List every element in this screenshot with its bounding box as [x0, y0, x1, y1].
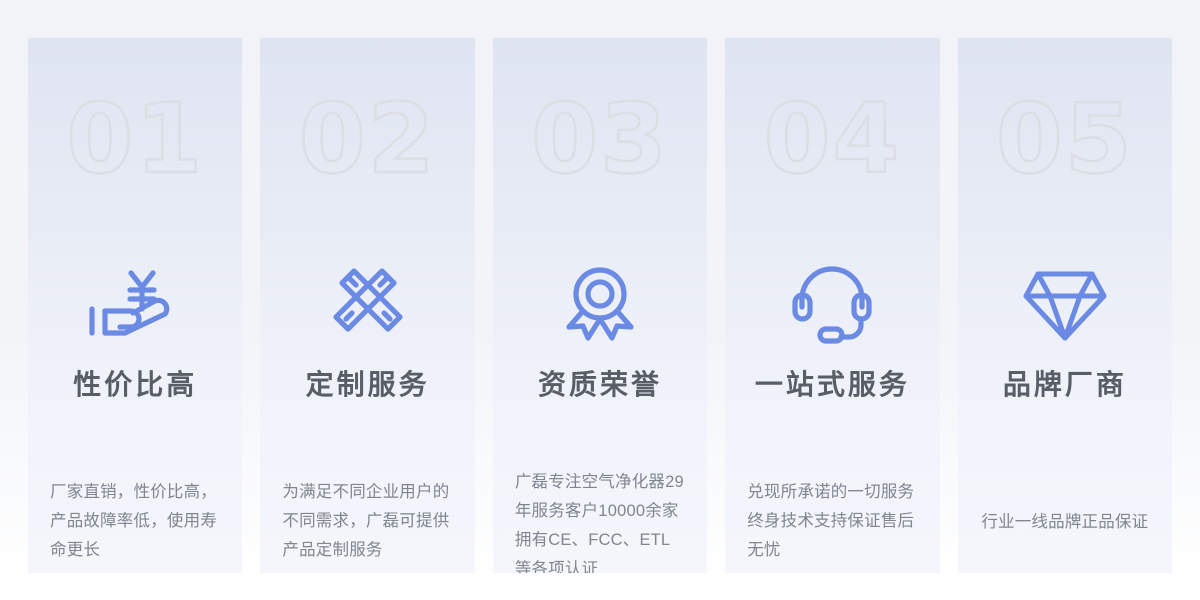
award-ribbon-icon — [493, 260, 707, 350]
card-title-1: 性价比高 — [28, 363, 242, 403]
feature-card-5[interactable]: 05 品牌厂商 行业一线品牌正品保证 — [958, 38, 1172, 573]
pen-ruler-icon — [260, 260, 474, 350]
card-number-02: 02 — [260, 84, 474, 194]
feature-card-2[interactable]: 02 定制服务 为满足不同企业用户的不同需求，广磊可提供产品定制服务 — [260, 38, 474, 573]
card-number-04: 04 — [725, 84, 939, 194]
feature-card-3[interactable]: 03 资质荣誉 广磊专注空气净化器29年服务客户10000余家拥有CE、FCC、… — [493, 38, 707, 573]
card-number-01: 01 — [28, 84, 242, 194]
feature-card-1[interactable]: 01 性价比高 厂家直销，性价比高，产品故障率低，使用寿命更长 — [28, 38, 242, 573]
card-desc-2: 为满足不同企业用户的不同需求，广磊可提供产品定制服务 — [260, 478, 474, 565]
card-number-03: 03 — [493, 84, 707, 194]
card-number-05: 05 — [958, 84, 1172, 194]
card-desc-1: 厂家直销，性价比高，产品故障率低，使用寿命更长 — [28, 478, 242, 565]
card-title-2: 定制服务 — [260, 363, 474, 403]
headset-icon — [725, 260, 939, 350]
card-title-4: 一站式服务 — [725, 363, 939, 403]
card-title-5: 品牌厂商 — [958, 363, 1172, 403]
card-desc-4: 兑现所承诺的一切服务终身技术支持保证售后无忧 — [725, 478, 939, 565]
card-desc-5: 行业一线品牌正品保证 — [958, 508, 1172, 537]
card-desc-3: 广磊专注空气净化器29年服务客户10000余家拥有CE、FCC、ETL等各项认证 — [493, 468, 707, 573]
hand-holding-yuan-icon — [28, 260, 242, 350]
card-title-3: 资质荣誉 — [493, 363, 707, 403]
diamond-icon — [958, 260, 1172, 350]
feature-card-4[interactable]: 04 一站式服务 兑现所承诺的一切服务终身技术支持保证售后无忧 — [725, 38, 939, 573]
feature-highlights-section: 01 性价比高 厂家直销，性价比高，产品故障率低，使用寿命更长 02 — [0, 0, 1200, 600]
feature-cards-row: 01 性价比高 厂家直销，性价比高，产品故障率低，使用寿命更长 02 — [28, 38, 1172, 573]
